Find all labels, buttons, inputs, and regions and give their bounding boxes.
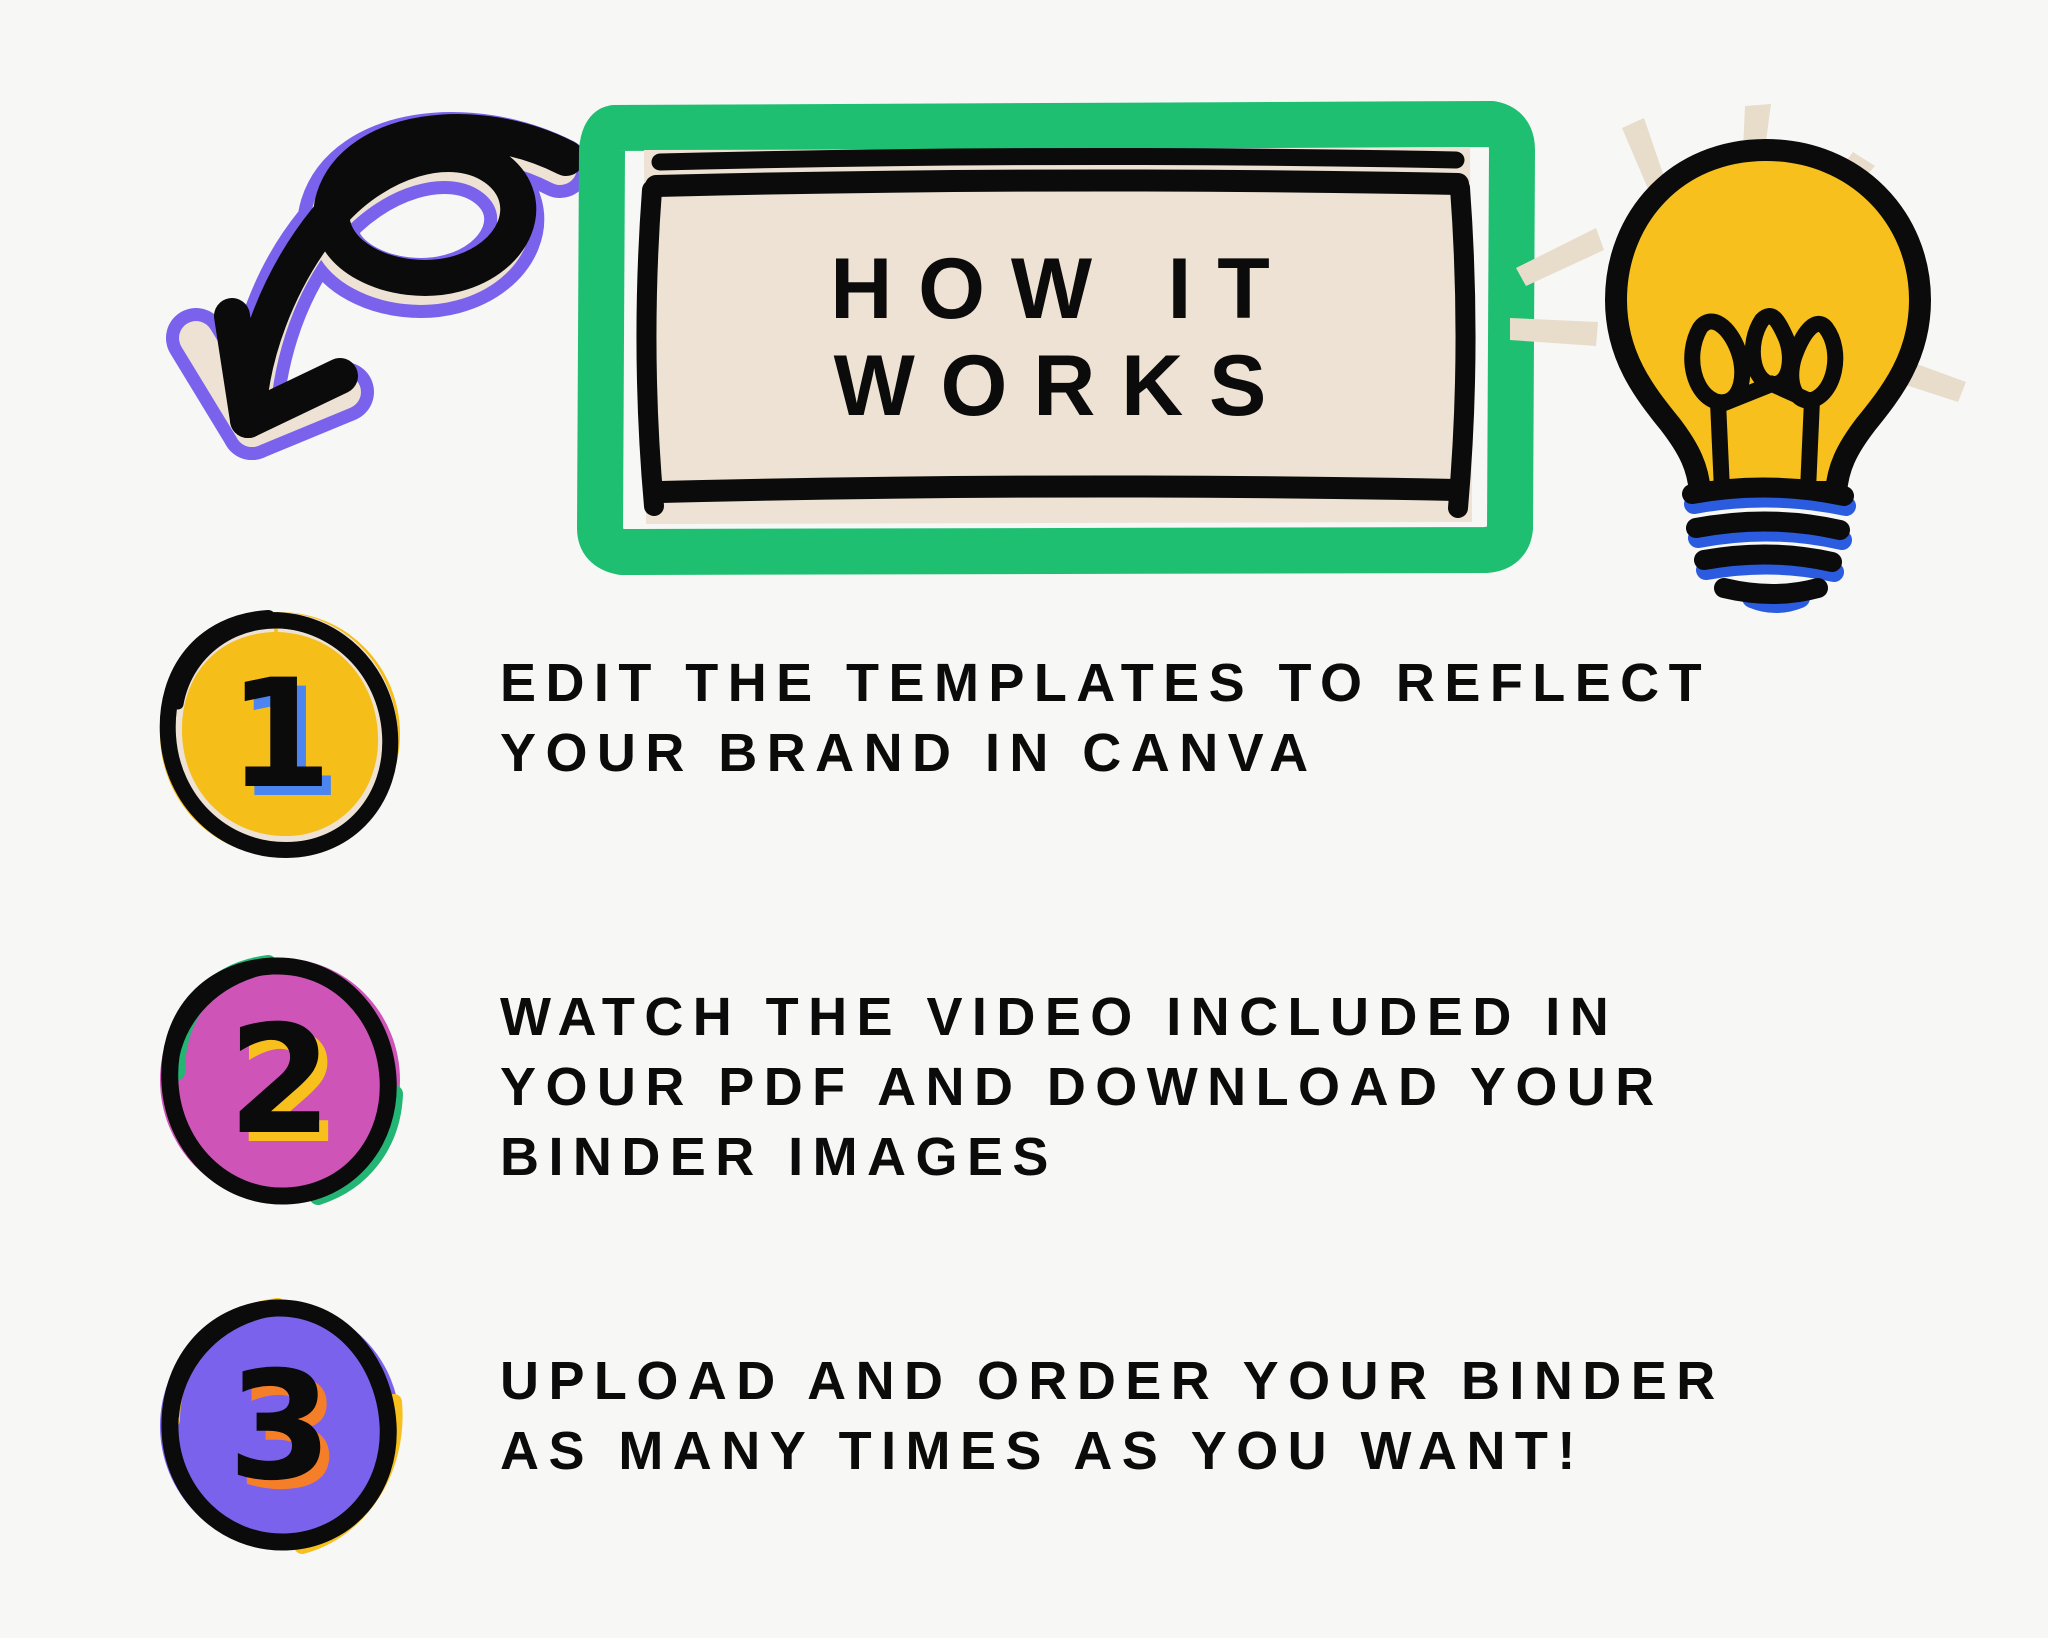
step-text-2: WATCH THE VIDEO INCLUDED IN YOUR PDF AND… <box>410 946 2048 1193</box>
title-box: HOW IT WORKS <box>600 118 1500 558</box>
steps-list: 1 1 EDIT THE TEMPLATES TO REFLECT YOUR B… <box>0 600 2048 1638</box>
list-item: 1 1 EDIT THE TEMPLATES TO REFLECT YOUR B… <box>0 600 2048 946</box>
step-number: 1 <box>150 600 410 870</box>
step-line: BINDER IMAGES <box>500 1122 2008 1192</box>
title-line-2: WORKS <box>808 338 1292 435</box>
poster-canvas: HOW IT WORKS <box>0 0 2048 1638</box>
step-line: WATCH THE VIDEO INCLUDED IN <box>500 982 2008 1052</box>
step-line: AS MANY TIMES AS YOU WANT! <box>500 1416 2008 1486</box>
step-line: EDIT THE TEMPLATES TO REFLECT <box>500 648 2008 718</box>
step-badge-2: 2 2 <box>150 946 410 1216</box>
list-item: 3 3 UPLOAD AND ORDER YOUR BINDER AS MANY… <box>0 1292 2048 1638</box>
step-text-3: UPLOAD AND ORDER YOUR BINDER AS MANY TIM… <box>410 1292 2048 1486</box>
title-line-1: HOW IT <box>804 241 1295 338</box>
step-line: YOUR PDF AND DOWNLOAD YOUR <box>500 1052 2008 1122</box>
page-title: HOW IT WORKS <box>600 118 1500 558</box>
step-number: 2 <box>150 946 410 1216</box>
step-line: UPLOAD AND ORDER YOUR BINDER <box>500 1346 2008 1416</box>
step-text-1: EDIT THE TEMPLATES TO REFLECT YOUR BRAND… <box>410 600 2048 788</box>
step-badge-3: 3 3 <box>150 1292 410 1562</box>
step-badge-1: 1 1 <box>150 600 410 870</box>
step-number: 3 <box>150 1292 410 1562</box>
step-line: YOUR BRAND IN CANVA <box>500 718 2008 788</box>
list-item: 2 2 WATCH THE VIDEO INCLUDED IN YOUR PDF… <box>0 946 2048 1292</box>
